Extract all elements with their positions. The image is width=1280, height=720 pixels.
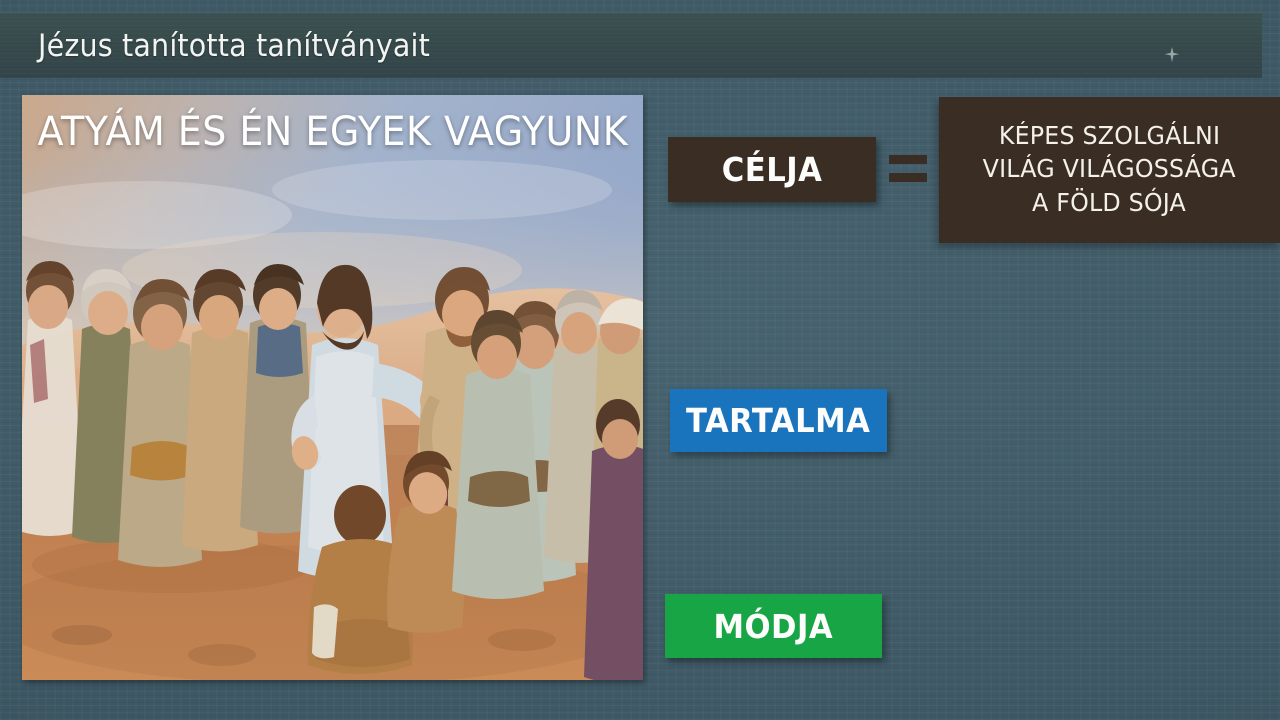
presentation-slide: Jézus tanította tanítványait: [0, 0, 1280, 720]
diagram-label-tartalma[interactable]: TARTALMA: [670, 389, 887, 452]
result-line-1: KÉPES SZOLGÁLNI: [999, 119, 1220, 152]
illustration-artwork: [22, 95, 643, 680]
slide-illustration: ATYÁM ÉS ÉN EGYEK VAGYUNK: [22, 95, 643, 680]
page-title: Jézus tanította tanítványait: [38, 28, 430, 64]
diagram-label-celja[interactable]: CÉLJA: [668, 137, 876, 202]
diagram-label-tartalma-text: TARTALMA: [686, 401, 870, 440]
equals-icon: [889, 152, 927, 186]
diagram-label-modja[interactable]: MÓDJA: [665, 594, 882, 658]
result-line-2: VILÁG VILÁGOSSÁGA: [983, 152, 1236, 185]
sparkle-icon: [1163, 46, 1181, 64]
diagram-label-modja-text: MÓDJA: [714, 607, 834, 646]
diagram-label-celja-text: CÉLJA: [722, 150, 823, 189]
diagram-result-celja: KÉPES SZOLGÁLNI VILÁG VILÁGOSSÁGA A FÖLD…: [939, 97, 1280, 243]
illustration-caption: ATYÁM ÉS ÉN EGYEK VAGYUNK: [38, 109, 628, 155]
result-line-3: A FÖLD SÓJA: [1033, 186, 1187, 219]
slide-title-banner: Jézus tanította tanítványait: [0, 13, 1262, 78]
